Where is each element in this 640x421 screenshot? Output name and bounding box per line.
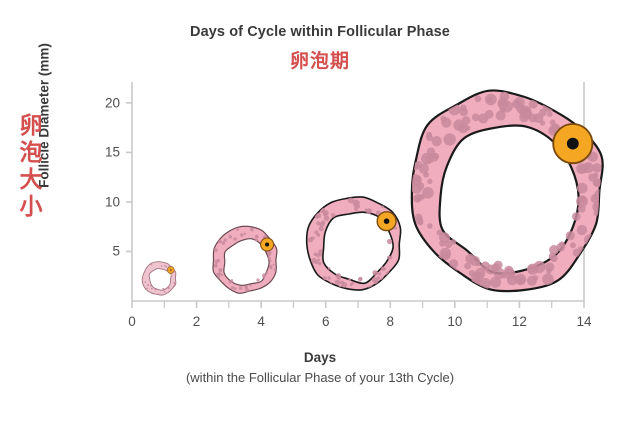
y-tick-label-20: 20 [78, 95, 120, 110]
y-tick-label-15: 15 [78, 145, 120, 160]
follicle-3: Day 7.2 — 8.8 mm [307, 197, 404, 290]
follicle-wall [412, 90, 603, 291]
follicle-2: Day 3.7 — 6 mm [213, 226, 277, 293]
x-tick-label-8: 8 [387, 314, 395, 329]
x-tick-label-12: 12 [512, 314, 527, 329]
follicle-4: Day 12.3 — 15.2 mm [407, 90, 606, 291]
follicle-1: Day 0.8 — 3.4 mm [142, 262, 176, 295]
plot-area: Day 0.8 — 3.4 mmDay 3.7 — 6 mmDay 7.2 — … [0, 0, 640, 421]
x-tick-label-10: 10 [447, 314, 462, 329]
y-tick-label-10: 10 [78, 194, 120, 209]
follicle-wall [213, 226, 277, 293]
x-tick-label-6: 6 [322, 314, 330, 329]
y-tick-label-5: 5 [78, 244, 120, 259]
ovum-4: Day 12.3 — 15.2 mm [553, 124, 592, 163]
ovum-1: Day 0.8 — 3.4 mm [167, 267, 174, 274]
x-tick-label-14: 14 [576, 314, 591, 329]
ovum-3: Day 7.2 — 8.8 mm [377, 212, 396, 231]
x-tick-label-4: 4 [257, 314, 265, 329]
ovum-2: Day 3.7 — 6 mm [261, 238, 274, 251]
follicle-growth-chart: Days of Cycle within Follicular Phase 卵泡… [0, 0, 640, 421]
follicle-layer: Day 0.8 — 3.4 mmDay 3.7 — 6 mmDay 7.2 — … [142, 90, 605, 295]
x-tick-label-2: 2 [193, 314, 201, 329]
x-tick-label-0: 0 [128, 314, 136, 329]
